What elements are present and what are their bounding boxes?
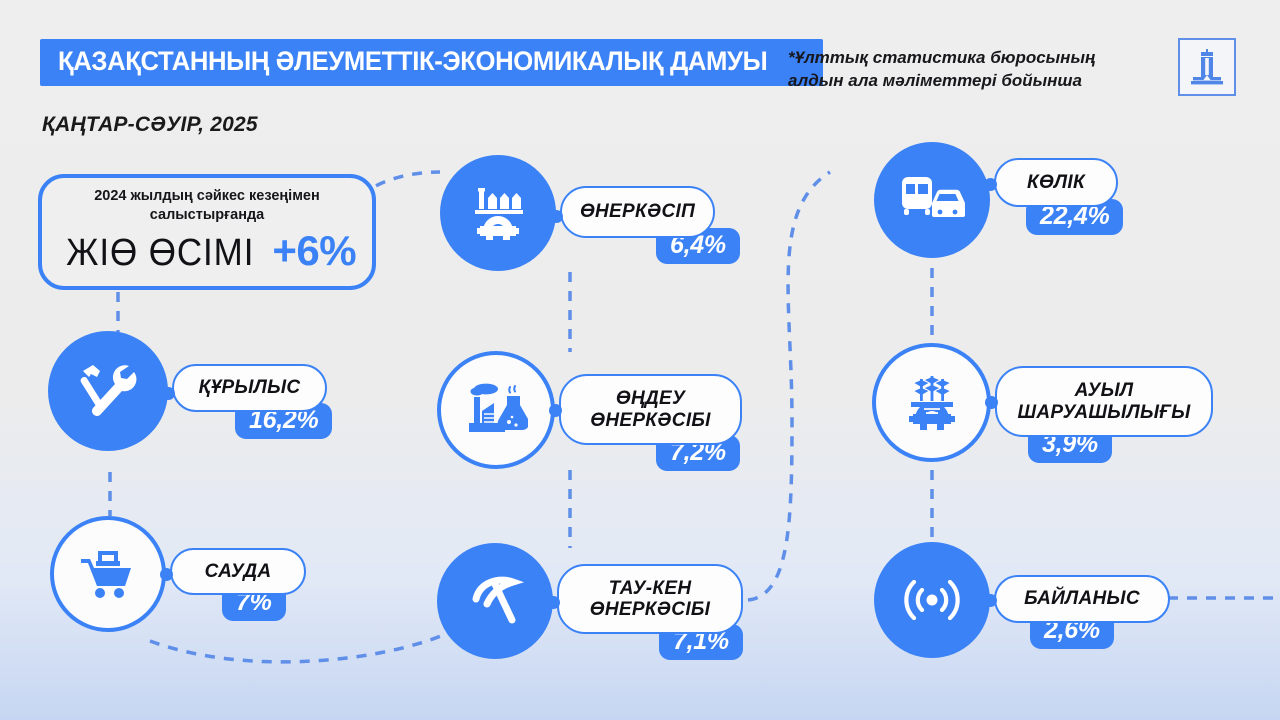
government-building-glyph [1189, 48, 1225, 86]
manufacturing-label: ӨҢДЕУ ӨНЕРКӘСІБІ [590, 388, 710, 431]
industry-label-pill[interactable]: ӨНЕРКӘСІП [560, 186, 715, 238]
communications-circle[interactable] [874, 542, 990, 658]
construction-label-pill[interactable]: ҚҰРЫЛЫС [172, 364, 327, 412]
gdp-growth-card: 2024 жылдың сәйкес кезеңімен салыстырған… [38, 174, 376, 290]
industry-connector-dot [550, 210, 563, 223]
industry-label: ӨНЕРКӘСІП [580, 201, 695, 222]
source-note: *Ұлттық статистика бюросының алдын ала м… [788, 47, 1148, 93]
sector-node-manufacturing[interactable]: ӨҢДЕУ ӨНЕРКӘСІБІ 7,2% [437, 351, 767, 486]
trade-label: САУДА [205, 561, 272, 582]
mining-label: ТАУ-КЕН ӨНЕРКӘСІБІ [590, 578, 710, 621]
signal-waves-icon [901, 573, 963, 627]
hammer-wrench-icon [75, 360, 141, 422]
transport-label-pill[interactable]: КӨЛІК [994, 158, 1118, 207]
gdp-headline: ЖІӨ ӨСІМІ +6% [58, 227, 356, 275]
sector-node-industry[interactable]: ӨНЕРКӘСІП 6,4% [440, 155, 770, 285]
page-title: ҚАЗАҚСТАННЫҢ ӘЛЕУМЕТТІК-ЭКОНОМИКАЛЫҚ ДАМ… [40, 39, 823, 86]
manufacturing-connector-dot [549, 404, 562, 417]
sector-node-agriculture[interactable]: АУЫЛ ШАРУАШЫЛЫҒЫ 3,9% [872, 343, 1237, 478]
period-subtitle: ҚАҢТАР-СӘУІР, 2025 [42, 113, 258, 137]
agriculture-label: АУЫЛ ШАРУАШЫЛЫҒЫ [1017, 380, 1190, 423]
trade-connector-dot [160, 568, 173, 581]
mining-circle[interactable] [437, 543, 553, 659]
wheat-gear-icon [900, 373, 964, 433]
communications-label-pill[interactable]: БАЙЛАНЫС [994, 575, 1170, 623]
transport-value: 22,4% [1040, 204, 1109, 229]
communications-label: БАЙЛАНЫС [1024, 588, 1140, 609]
industry-circle[interactable] [440, 155, 556, 271]
agriculture-label-pill[interactable]: АУЫЛ ШАРУАШЫЛЫҒЫ [995, 366, 1213, 437]
sector-node-mining[interactable]: ТАУ-КЕН ӨНЕРКӘСІБІ 7,1% [437, 543, 767, 673]
agriculture-circle[interactable] [872, 343, 991, 462]
gdp-label: ЖІӨ ӨСІМІ [66, 232, 254, 275]
infographic-canvas: ҚАЗАҚСТАННЫҢ ӘЛЕУМЕТТІК-ЭКОНОМИКАЛЫҚ ДАМ… [0, 0, 1280, 720]
sector-node-communications[interactable]: БАЙЛАНЫС 2,6% [874, 542, 1174, 670]
manufacturing-label-pill[interactable]: ӨҢДЕУ ӨНЕРКӘСІБІ [559, 374, 742, 445]
gdp-caption: 2024 жылдың сәйкес кезеңімен салыстырған… [42, 187, 372, 224]
transport-circle[interactable] [874, 142, 990, 258]
trade-circle[interactable] [50, 516, 166, 632]
factory-gear-icon [466, 181, 530, 245]
shopping-cart-icon [77, 546, 139, 602]
mining-connector-dot [547, 596, 560, 609]
transport-connector-dot [984, 178, 997, 191]
construction-connector-dot [162, 387, 175, 400]
gdp-value: +6% [272, 227, 356, 275]
factory-flask-icon [464, 381, 528, 439]
construction-label: ҚҰРЫЛЫС [199, 377, 301, 398]
transport-label: КӨЛІК [1027, 172, 1085, 193]
sector-node-transport[interactable]: КӨЛІК 22,4% [874, 142, 1174, 272]
sector-node-trade[interactable]: САУДА 7% [50, 516, 340, 644]
mining-label-pill[interactable]: ТАУ-КЕН ӨНЕРКӘСІБІ [557, 564, 743, 634]
bus-car-icon [898, 171, 966, 229]
sector-node-construction[interactable]: ҚҰРЫЛЫС 16,2% [48, 331, 358, 466]
pickaxe-icon [464, 570, 526, 632]
communications-connector-dot [984, 594, 997, 607]
page-title-text: ҚАЗАҚСТАННЫҢ ӘЛЕУМЕТТІК-ЭКОНОМИКАЛЫҚ ДАМ… [58, 48, 767, 75]
government-building-icon [1178, 38, 1236, 96]
manufacturing-circle[interactable] [437, 351, 555, 469]
agriculture-connector-dot [985, 396, 998, 409]
trade-label-pill[interactable]: САУДА [170, 548, 306, 595]
construction-circle[interactable] [48, 331, 168, 451]
